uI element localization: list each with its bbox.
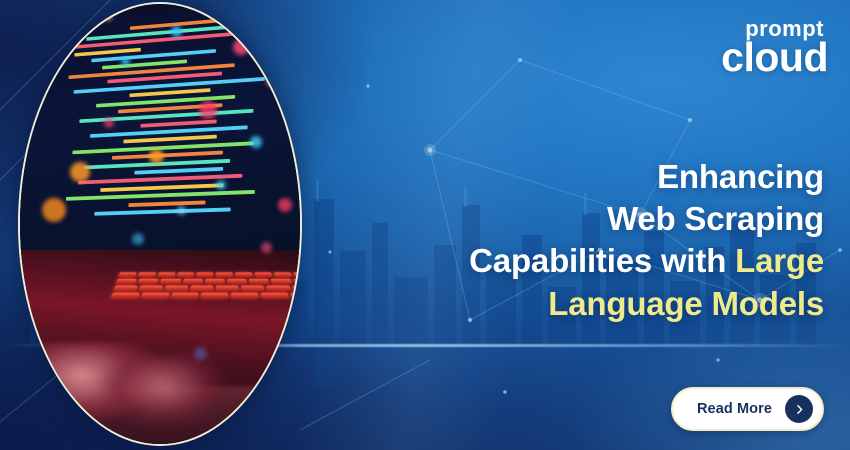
logo-text-cloud: cloud: [668, 37, 828, 78]
promptcloud-logo[interactable]: prompt cloud: [668, 18, 828, 88]
headline-line-3-plain: Capabilities with: [469, 242, 735, 279]
hero-photo: [18, 2, 302, 446]
bokeh-dot: [132, 233, 144, 245]
hero-photo-image: [20, 4, 300, 444]
headline-line-2: Web Scraping: [607, 200, 824, 237]
headline: Enhancing Web Scraping Capabilities with…: [304, 156, 824, 325]
headline-highlight-large: Large: [735, 242, 824, 279]
laptop-keyboard: [20, 250, 300, 444]
chevron-right-icon: [785, 395, 813, 423]
bokeh-dot: [149, 149, 164, 164]
bokeh-dot: [261, 242, 272, 253]
bokeh-dot: [42, 198, 66, 222]
bokeh-dot: [278, 198, 292, 212]
promotional-banner: prompt cloud Enhancing Web Scraping Capa…: [0, 0, 850, 450]
read-more-label: Read More: [697, 401, 772, 417]
code-lines: [44, 8, 300, 221]
headline-highlight-language-models: Language Models: [548, 285, 824, 322]
bokeh-dot: [194, 347, 207, 360]
keyboard-keys: [102, 272, 300, 321]
headline-line-1: Enhancing: [657, 158, 824, 195]
bokeh-dot: [216, 180, 226, 190]
bokeh-dot: [121, 57, 130, 66]
bokeh-dot: [104, 13, 112, 21]
bokeh-dot: [233, 39, 249, 55]
bokeh-dot: [250, 136, 262, 148]
hands-right: [93, 355, 232, 432]
bokeh-dot: [199, 101, 217, 119]
read-more-button[interactable]: Read More: [671, 387, 824, 431]
